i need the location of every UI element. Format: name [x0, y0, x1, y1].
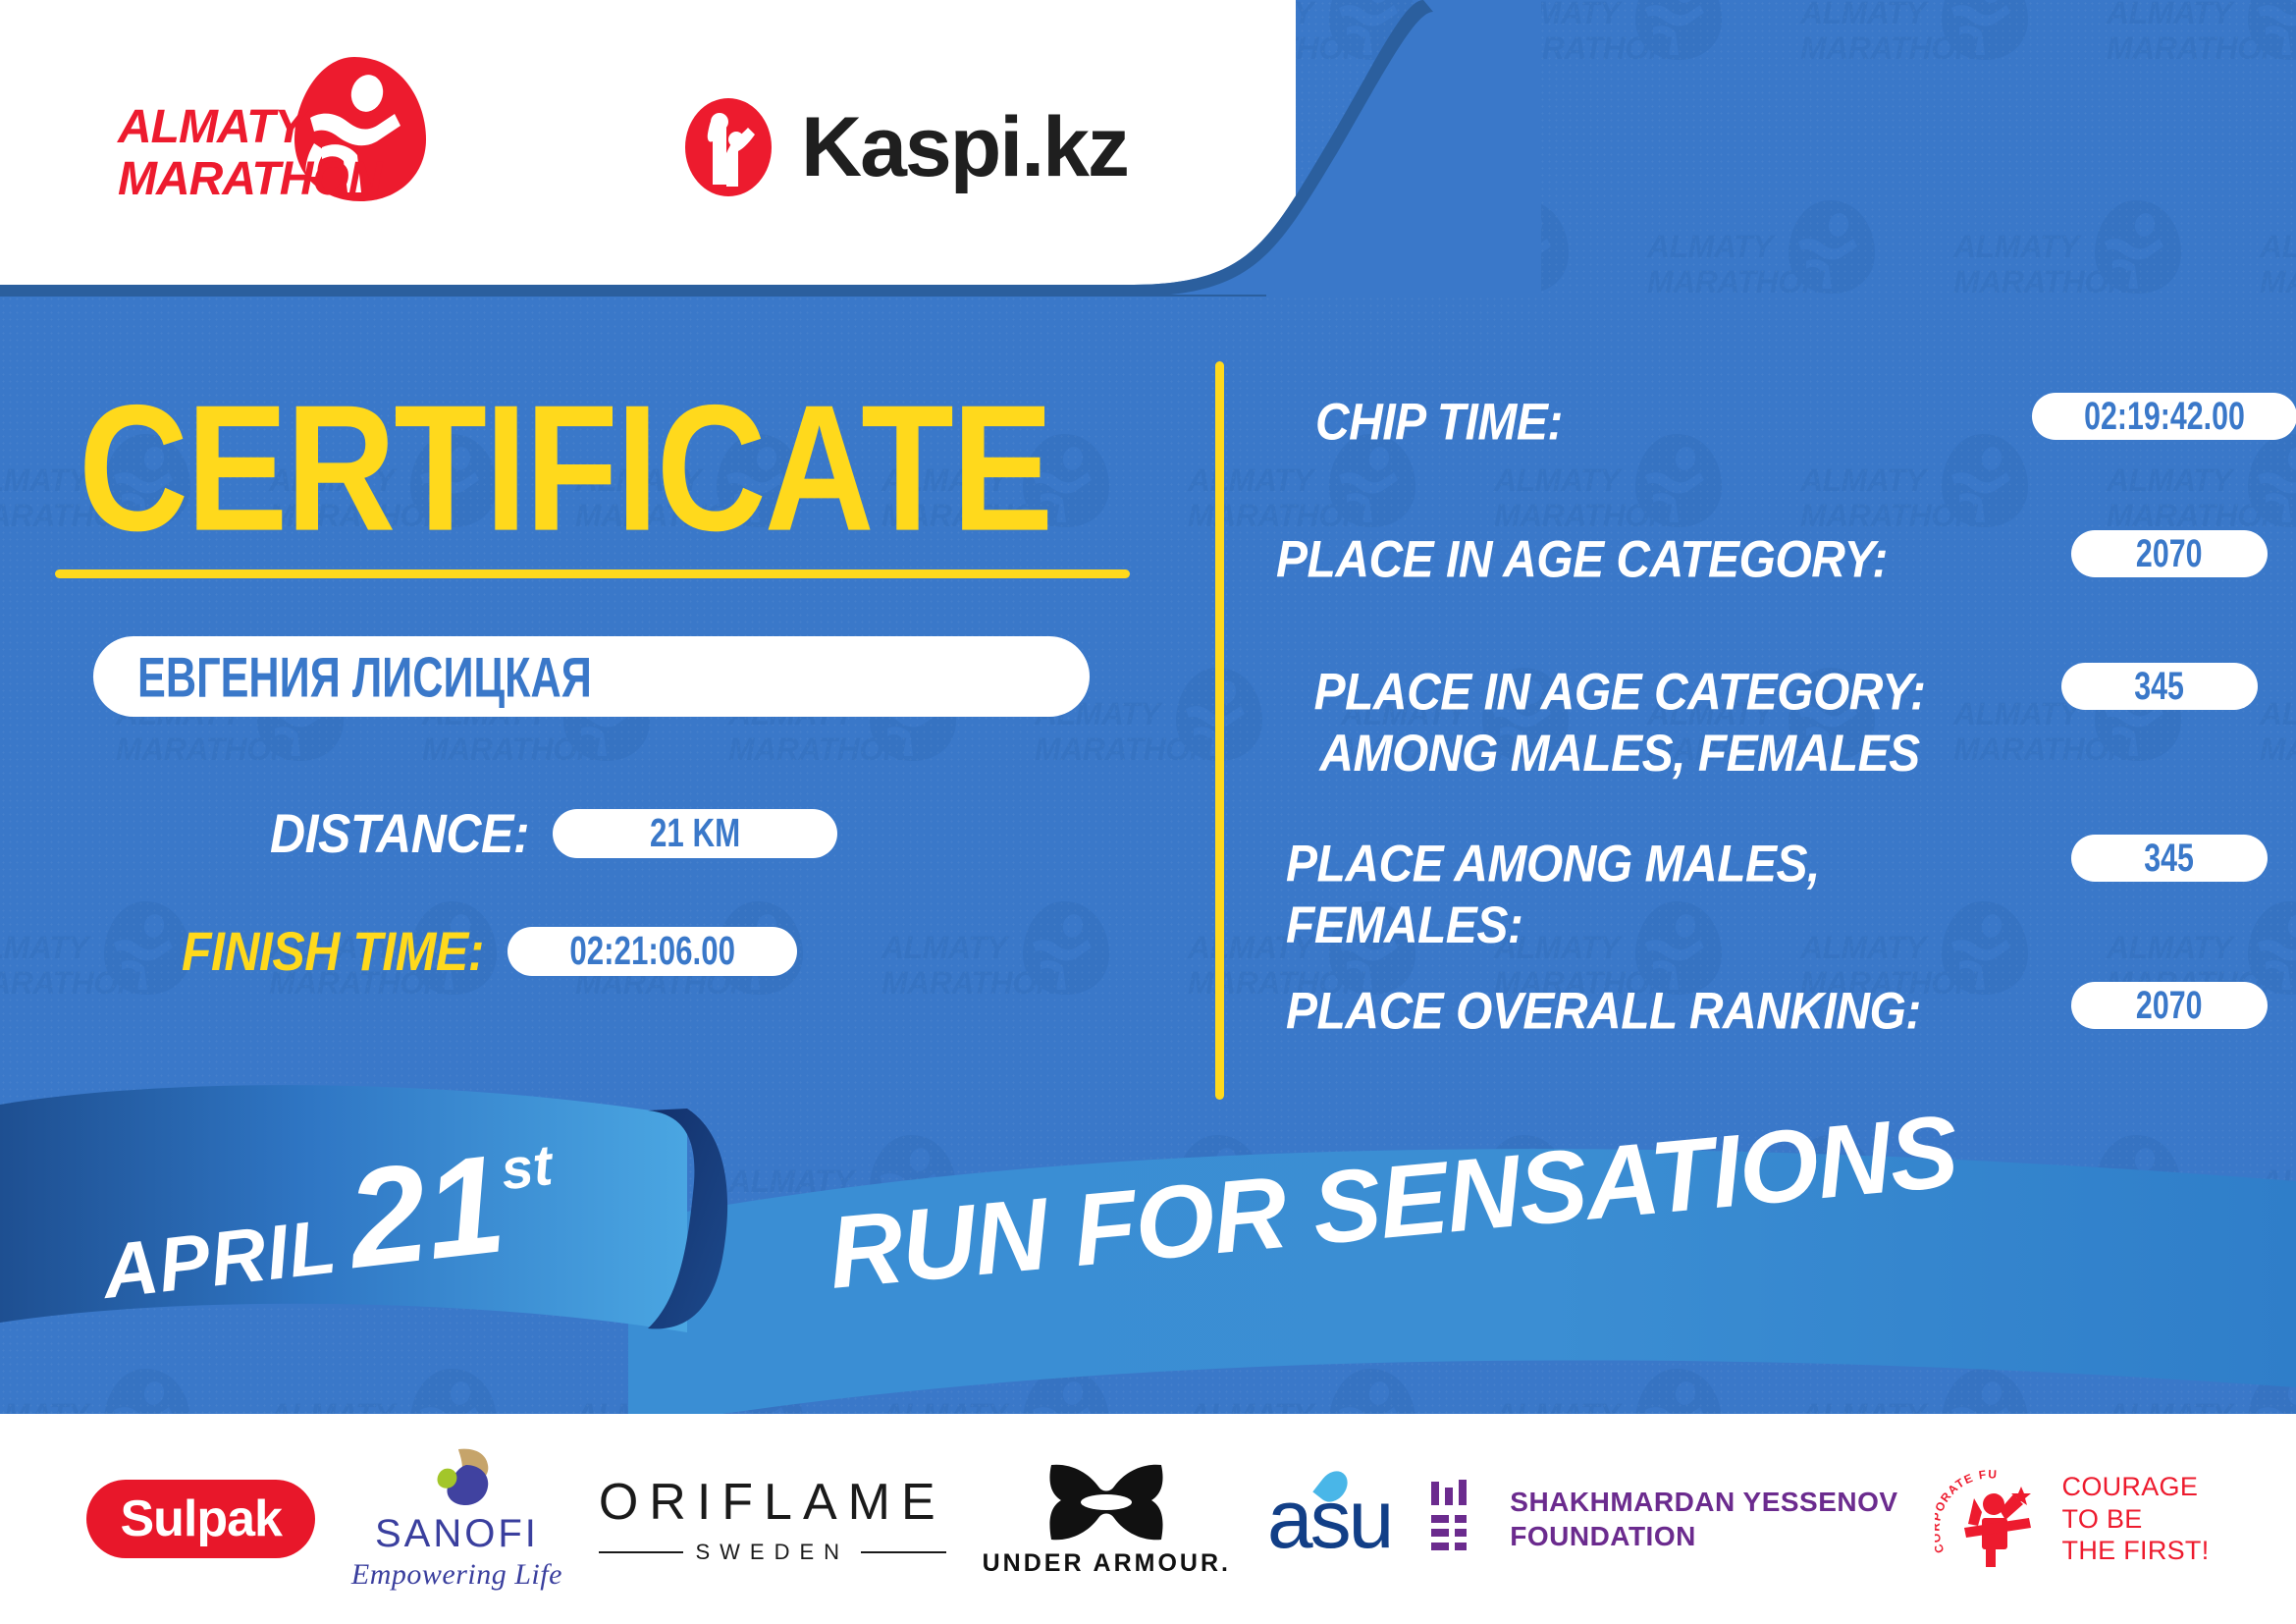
sponsor-sulpak: Sulpak — [86, 1480, 315, 1558]
place-among-value-pill: 345 — [2071, 835, 2268, 882]
courage-mark-icon: CORPORATE FUND — [1935, 1461, 2051, 1577]
place-age-category-value: 2070 — [2136, 531, 2203, 576]
participant-name-field: ЕВГЕНИЯ ЛИСИЦКАЯ — [93, 636, 1090, 717]
yessenov-label: SHAKHMARDAN YESSENOV FOUNDATION — [1510, 1485, 1897, 1553]
place-age-among-value-pill: 345 — [2061, 663, 2258, 710]
vertical-divider — [1215, 361, 1224, 1100]
stat-row-chip-time: CHIP TIME: 02:19:42.00 — [1315, 393, 2296, 449]
event-day-suffix: st — [499, 1137, 556, 1199]
place-among-label-line2: FEMALES: — [1286, 896, 1522, 953]
sponsor-oriflame: ORIFLAME SWEDEN — [599, 1473, 946, 1565]
sponsor-bar: Sulpak SANOFI Empowering Life ORIFLAME S… — [0, 1414, 2296, 1624]
certificate-page: ALMATYMARATHONALMATYMARATHONALMATYMARATH… — [0, 0, 2296, 1624]
oriflame-label: ORIFLAME — [599, 1473, 946, 1532]
chip-time-value: 02:19:42.00 — [2084, 394, 2245, 439]
sponsor-sanofi: SANOFI Empowering Life — [351, 1447, 562, 1592]
oriflame-sweden-label: SWEDEN — [695, 1540, 849, 1565]
finish-time-value: 02:21:06.00 — [569, 929, 735, 975]
chip-time-label: CHIP TIME: — [1315, 393, 1563, 454]
sanofi-mark-icon — [415, 1447, 498, 1508]
place-among-label-line1: PLACE AMONG MALES, — [1286, 836, 1820, 893]
distance-row: DISTANCE: 21 KM — [270, 805, 837, 862]
distance-value: 21 KM — [650, 811, 740, 857]
under-armour-label: UNDER ARMOUR. — [983, 1549, 1231, 1578]
place-among-label: PLACE AMONG MALES, FEMALES: — [1286, 835, 1820, 957]
place-age-among-value: 345 — [2135, 664, 2185, 709]
stat-row-place-age-category: PLACE IN AGE CATEGORY: 2070 — [1276, 530, 2268, 586]
place-overall-label: PLACE OVERALL RANKING: — [1286, 982, 1921, 1043]
finish-time-label: FINISH TIME: — [182, 920, 484, 984]
sponsor-asu: asu — [1267, 1478, 1391, 1560]
oriflame-rule-right — [861, 1551, 946, 1553]
stat-row-place-age-category-among: PLACE IN AGE CATEGORY: AMONG MALES, FEMA… — [1276, 663, 2258, 774]
finish-time-row: FINISH TIME: 02:21:06.00 — [182, 923, 797, 980]
sanofi-label: SANOFI — [375, 1512, 539, 1556]
participant-name: ЕВГЕНИЯ ЛИСИЦКАЯ — [137, 643, 592, 709]
place-age-category-value-pill: 2070 — [2071, 530, 2268, 577]
place-overall-value-pill: 2070 — [2071, 982, 2268, 1029]
stat-row-place-overall: PLACE OVERALL RANKING: 2070 — [1286, 982, 2268, 1038]
chip-time-value-pill: 02:19:42.00 — [2032, 393, 2296, 440]
sanofi-tagline: Empowering Life — [351, 1558, 562, 1592]
sponsor-under-armour: UNDER ARMOUR. — [983, 1461, 1231, 1578]
place-age-among-label-line1: PLACE IN AGE CATEGORY: — [1314, 664, 1926, 721]
yessenov-label-line1: SHAKHMARDAN YESSENOV — [1510, 1487, 1897, 1517]
stat-row-place-among-males-females: PLACE AMONG MALES, FEMALES: 345 — [1286, 835, 2268, 946]
distance-label: DISTANCE: — [270, 802, 529, 866]
sponsor-courage-to-be-first: CORPORATE FUND COURAGE TO BE THE FIRST! — [1935, 1461, 2210, 1577]
under-armour-mark-icon — [1043, 1461, 1169, 1543]
courage-label-line3: THE FIRST! — [2062, 1536, 2210, 1565]
yessenov-mark-icon — [1427, 1478, 1488, 1560]
courage-label: COURAGE TO BE THE FIRST! — [2062, 1471, 2210, 1568]
finish-time-value-pill: 02:21:06.00 — [507, 927, 797, 976]
sponsor-yessenov-foundation: SHAKHMARDAN YESSENOV FOUNDATION — [1427, 1478, 1897, 1560]
place-age-category-label: PLACE IN AGE CATEGORY: — [1276, 530, 1888, 591]
courage-label-line2: TO BE — [2062, 1504, 2143, 1534]
event-day: 21 — [342, 1138, 510, 1287]
oriflame-rule-left — [599, 1551, 684, 1553]
oriflame-sub: SWEDEN — [599, 1540, 946, 1565]
place-age-among-label: PLACE IN AGE CATEGORY: AMONG MALES, FEMA… — [1276, 663, 1963, 785]
courage-label-line1: COURAGE — [2062, 1472, 2199, 1501]
sulpak-label: Sulpak — [120, 1490, 282, 1547]
place-age-among-label-line2: AMONG MALES, FEMALES — [1319, 725, 1919, 782]
title-underline — [55, 569, 1130, 578]
distance-value-pill: 21 KM — [553, 809, 837, 858]
sulpak-logo: Sulpak — [86, 1480, 315, 1558]
page-title: CERTIFICATE — [79, 378, 1051, 558]
yessenov-label-line2: FOUNDATION — [1510, 1521, 1696, 1551]
place-overall-value: 2070 — [2136, 983, 2203, 1028]
place-among-value: 345 — [2145, 836, 2195, 881]
